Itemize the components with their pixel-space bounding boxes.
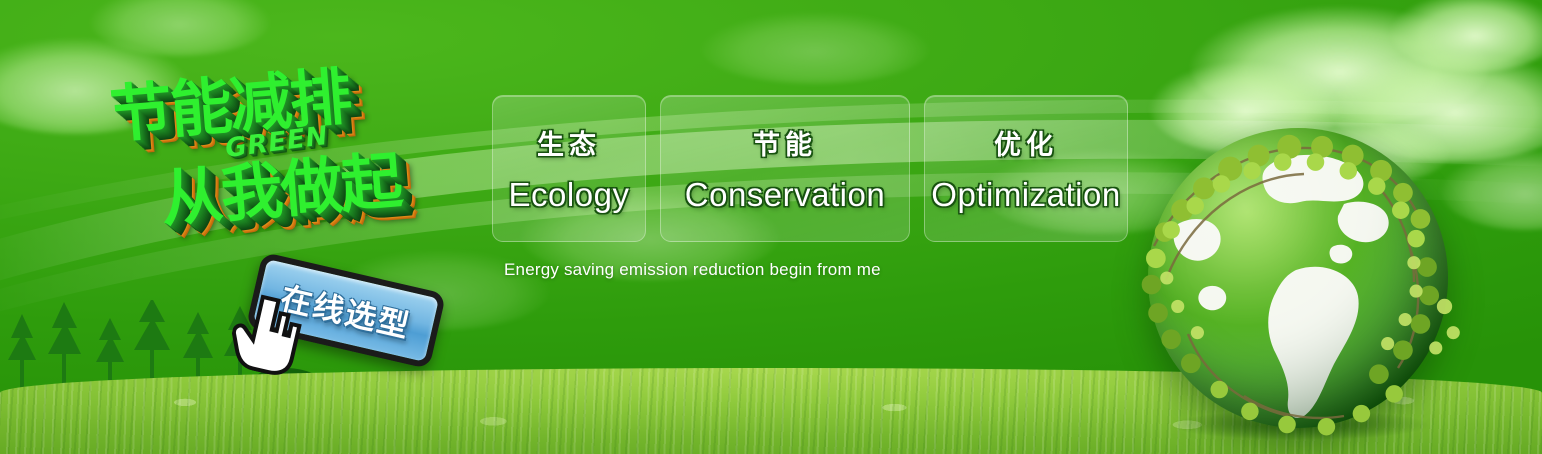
- card-optimization-cn: 优化: [994, 123, 1058, 162]
- cloud-icon: [700, 12, 930, 84]
- card-conservation[interactable]: 节能 Conservation: [660, 95, 910, 242]
- card-ecology[interactable]: 生态 Ecology: [492, 95, 646, 242]
- headline-3d-text: 节能减排 从我做起 GREEN: [87, 19, 505, 290]
- card-conservation-cn: 节能: [753, 123, 817, 162]
- tagline: Energy saving emission reduction begin f…: [504, 260, 881, 280]
- card-optimization-en: Optimization: [931, 176, 1120, 214]
- card-optimization[interactable]: 优化 Optimization: [924, 95, 1128, 242]
- globe-sphere: [1148, 128, 1448, 428]
- ivy-leaves-icon: [1134, 114, 1462, 442]
- card-conservation-en: Conservation: [685, 176, 885, 214]
- green-earth-globe-icon: [1148, 128, 1448, 428]
- eco-banner: 节能减排 从我做起 GREEN 在线选型 生态 Ecology 节能 Conse…: [0, 0, 1542, 454]
- card-ecology-en: Ecology: [509, 176, 630, 214]
- card-ecology-cn: 生态: [537, 123, 601, 162]
- feature-cards: 生态 Ecology 节能 Conservation 优化 Optimizati…: [492, 95, 1128, 242]
